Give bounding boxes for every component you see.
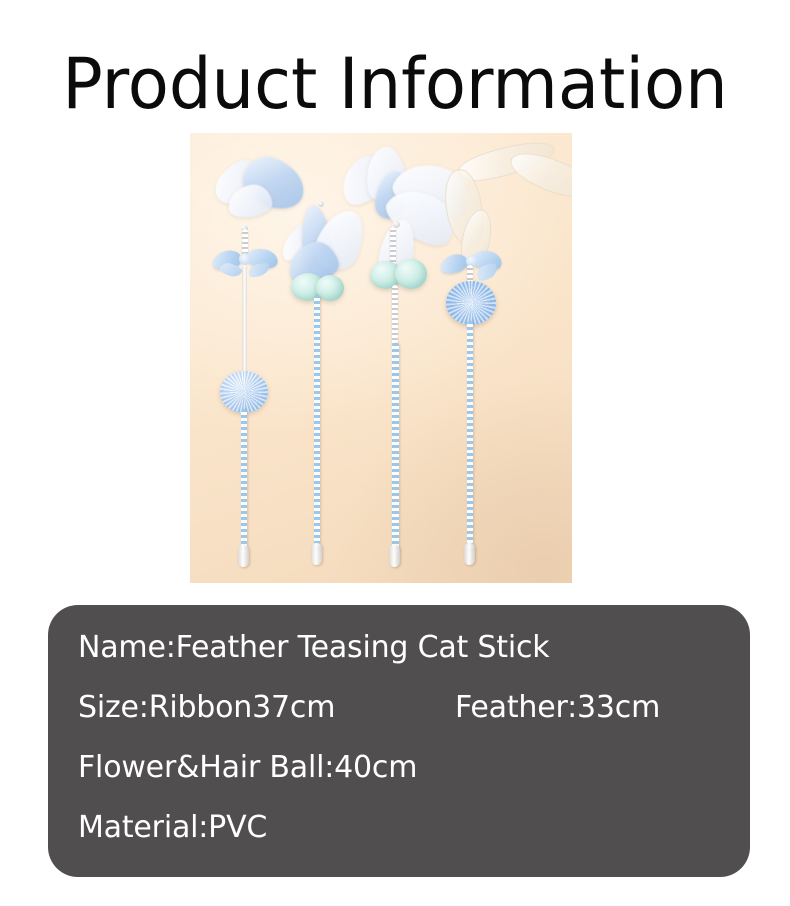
wand4-stick-tip [464,543,475,565]
spec-size-ribbon: Size:Ribbon37cm [78,691,335,725]
spec-size-feather: Feather:33cm [455,691,660,725]
spec-material: Material:PVC [78,811,267,845]
wand4-stick [467,321,473,553]
wand1-bow-knot [239,253,251,265]
wand1-ribbon-cord [242,265,247,375]
wand3-mint-pom-right [395,259,427,289]
wand2-stick [314,295,320,551]
product-spec-card: Name:Feather Teasing Cat Stick Size:Ribb… [48,605,750,877]
wand2-mint-pom-right [316,275,344,301]
wand1-stick [241,409,247,553]
spec-name: Name:Feather Teasing Cat Stick [78,631,549,665]
wand2-pearl-icon [318,201,324,207]
wand4-blue-flower-ball [446,281,496,325]
wand1-hair-ball-texture [220,371,268,413]
wand3-stick-tip [389,545,400,567]
spec-size-flower-hair-ball: Flower&Hair Ball:40cm [78,751,417,785]
page-title: Product Information [16,48,774,120]
wand2-stick-tip [311,543,322,565]
wand3-bead-chain-lower [392,285,398,347]
product-photo [190,133,572,583]
wand1-hair-ball [220,371,268,413]
wand3-stick [392,343,399,553]
wand4-flower-petals-texture [446,281,496,325]
wand1-stick-tip [238,545,249,567]
